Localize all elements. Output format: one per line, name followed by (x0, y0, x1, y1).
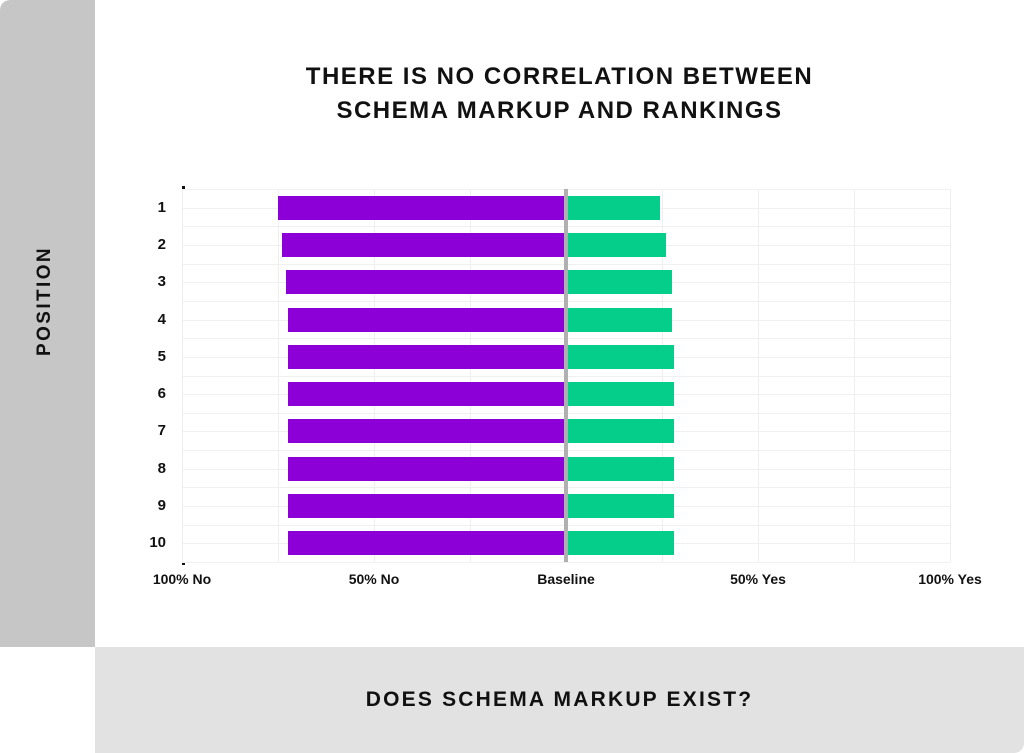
x-tick-label-3: 50% Yes (678, 571, 838, 587)
y-tick-label-7: 7 (116, 422, 166, 439)
y-tick-label-1: 1 (116, 199, 166, 216)
bar-yes-position-9 (566, 494, 674, 518)
bar-yes-position-7 (566, 419, 674, 443)
y-tick-label-9: 9 (116, 497, 166, 514)
bar-yes-position-2 (566, 233, 666, 257)
x-tick-label-2: Baseline (486, 571, 646, 587)
y-tick-label-3: 3 (116, 273, 166, 290)
chart-title-line-1: THERE IS NO CORRELATION BETWEEN (95, 60, 1024, 94)
page-title: THERE IS NO CORRELATION BETWEEN SCHEMA M… (95, 60, 1024, 128)
y-tick-label-6: 6 (116, 385, 166, 402)
x-tick-label-4: 100% Yes (870, 571, 1024, 587)
x-axis-band: DOES SCHEMA MARKUP EXIST? (95, 647, 1024, 753)
bar-yes-position-10 (566, 531, 674, 555)
bar-no-position-2 (282, 233, 566, 257)
bar-no-position-10 (288, 531, 566, 555)
y-tick-label-2: 2 (116, 236, 166, 253)
x-tick-label-0: 100% No (102, 571, 262, 587)
bar-no-position-4 (288, 308, 566, 332)
x-tick-label-1: 50% No (294, 571, 454, 587)
gridline-vertical (950, 189, 951, 562)
y-axis-title: POSITION (34, 181, 56, 421)
bar-no-position-6 (288, 382, 566, 406)
bar-yes-position-8 (566, 457, 674, 481)
position-axis-band: POSITION (0, 0, 95, 647)
bar-no-position-3 (286, 270, 566, 294)
bar-yes-position-5 (566, 345, 674, 369)
bar-no-position-8 (288, 457, 566, 481)
bar-no-position-9 (288, 494, 566, 518)
y-tick-label-8: 8 (116, 460, 166, 477)
corner-filler (0, 647, 95, 753)
y-tick-label-10: 10 (116, 534, 166, 551)
baseline-marker (564, 189, 568, 562)
bar-no-position-7 (288, 419, 566, 443)
plot-area: 12345678910100% No50% NoBaseline50% Yes1… (182, 189, 950, 562)
gridline-horizontal (182, 562, 950, 563)
bar-no-position-1 (278, 196, 566, 220)
bar-yes-position-3 (566, 270, 672, 294)
bar-yes-position-1 (566, 196, 660, 220)
y-tick-label-5: 5 (116, 348, 166, 365)
chart-card: POSITION THERE IS NO CORRELATION BETWEEN… (0, 0, 1024, 753)
bar-no-position-5 (288, 345, 566, 369)
y-tick-label-4: 4 (116, 311, 166, 328)
bar-yes-position-4 (566, 308, 672, 332)
bar-yes-position-6 (566, 382, 674, 406)
x-axis-title: DOES SCHEMA MARKUP EXIST? (366, 688, 754, 712)
chart-title-line-2: SCHEMA MARKUP AND RANKINGS (95, 94, 1024, 128)
